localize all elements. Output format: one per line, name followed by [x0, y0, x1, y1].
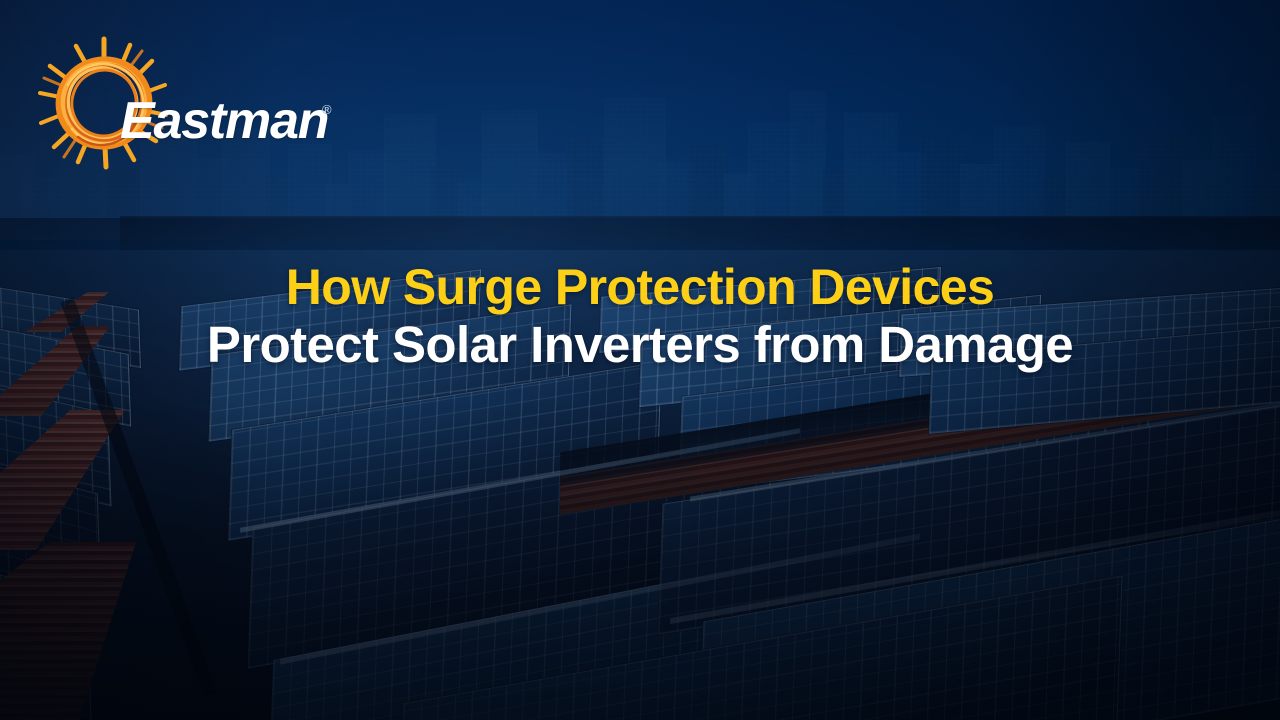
brand-wordmark: Eastman	[120, 95, 328, 147]
headline-block: How Surge Protection Devices Protect Sol…	[0, 258, 1280, 374]
headline-line-1: How Surge Protection Devices	[0, 258, 1280, 316]
headline-line-2: Protect Solar Inverters from Damage	[0, 316, 1280, 374]
registered-trademark-icon: ®	[322, 103, 332, 116]
banner-canvas: Eastman ® How Surge Protection Devices P…	[0, 0, 1280, 720]
eastman-logo[interactable]: Eastman ®	[34, 33, 324, 173]
